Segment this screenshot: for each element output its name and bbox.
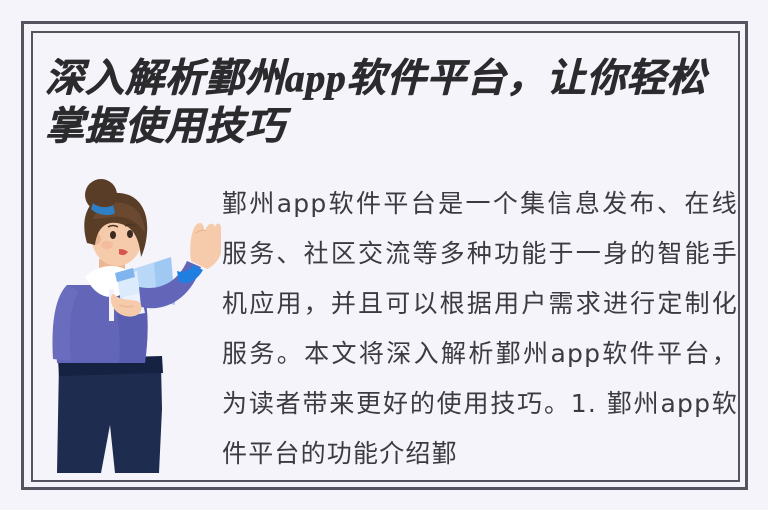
woman-with-megaphone-illustration xyxy=(41,173,221,473)
card-content: 深入解析鄞州app软件平台，让你轻松掌握使用技巧 xyxy=(33,33,738,480)
article-card-screen: 深入解析鄞州app软件平台，让你轻松掌握使用技巧 xyxy=(0,0,768,510)
eye-left-shape xyxy=(110,231,116,239)
blush-shape xyxy=(101,241,113,249)
article-body-text: 鄞州app软件平台是一个集信息发布、在线服务、社区交流等多种功能于一身的智能手机… xyxy=(222,179,738,479)
raised-hand-shape xyxy=(190,223,221,269)
page-title: 深入解析鄞州app软件平台，让你轻松掌握使用技巧 xyxy=(45,55,735,151)
eye-right-shape xyxy=(127,230,133,238)
trousers-shape xyxy=(57,363,162,473)
